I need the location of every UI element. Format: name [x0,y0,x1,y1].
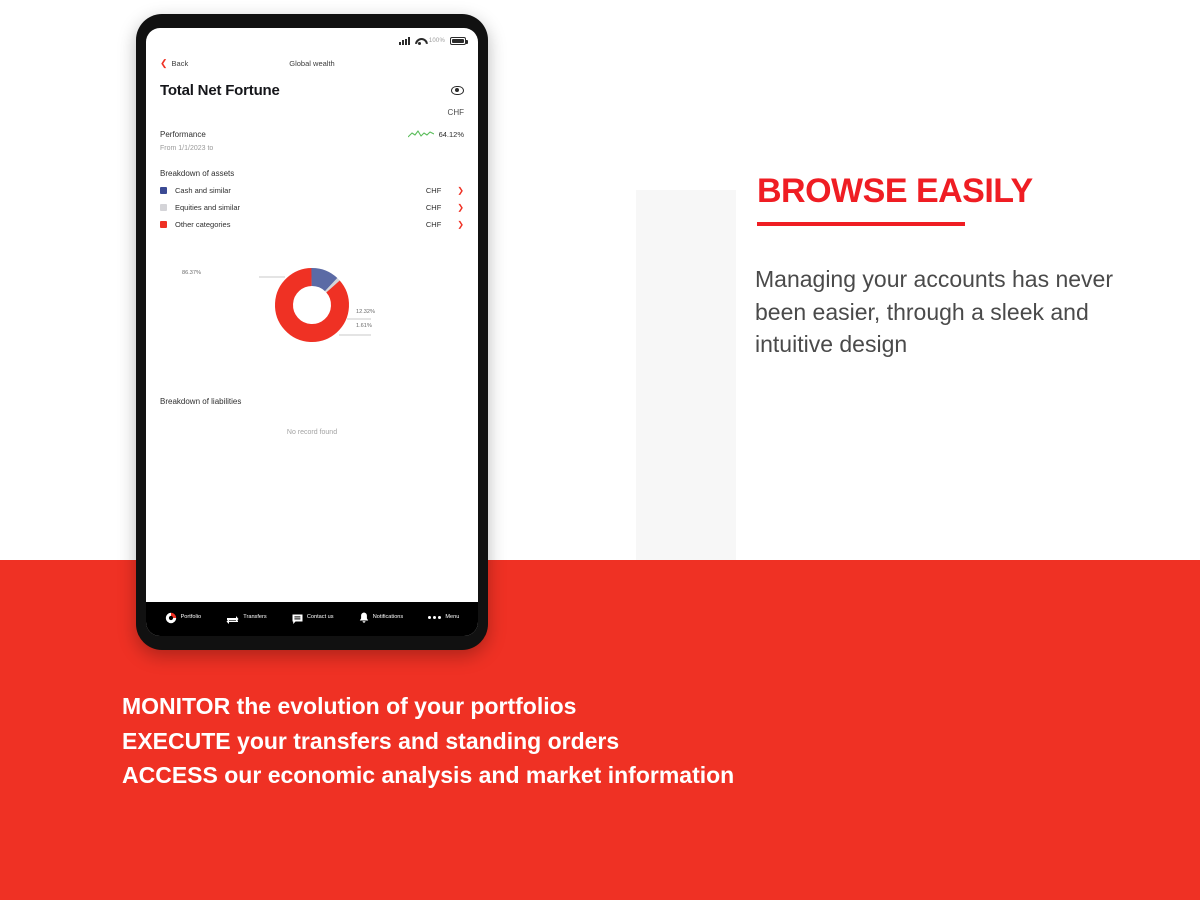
asset-row-equities[interactable]: Equities and similar CHF ❯ [160,195,464,212]
banner-keyword: EXECUTE [122,728,231,754]
assets-heading: Breakdown of assets [160,169,464,178]
tab-label: Portfolio [181,614,202,620]
banner-keyword: MONITOR [122,693,230,719]
chevron-right-icon: ❯ [457,187,464,195]
asset-name: Equities and similar [175,203,418,212]
sparkline-icon [408,129,434,139]
total-currency-label: CHF [160,108,464,117]
marketing-subcopy: Managing your accounts has never been ea… [755,263,1155,361]
chevron-right-icon: ❯ [457,221,464,229]
tab-label: Notifications [373,614,403,620]
tab-label: Transfers [243,614,266,620]
donut-chart-svg [197,247,427,365]
banner-text: our economic analysis and market informa… [218,762,734,788]
legend-swatch-cash [160,187,167,194]
banner-line-execute: EXECUTE your transfers and standing orde… [122,724,734,759]
legend-swatch-other [160,221,167,228]
asset-name: Cash and similar [175,186,418,195]
assets-donut-chart: 86.37% 12.32% 1.61% [160,243,464,375]
donut-label-equities: 1.61% [356,323,372,329]
asset-name: Other categories [175,220,418,229]
performance-value-group: 64.12% [408,129,464,139]
banner-text: your transfers and standing orders [231,728,620,754]
performance-value: 64.12% [439,130,464,139]
app-content: Total Net Fortune CHF Performance 64.12%… [146,82,478,436]
tab-label: Menu [445,614,459,620]
legend-swatch-equities [160,204,167,211]
donut-label-cash: 12.32% [356,309,375,315]
chevron-right-icon: ❯ [457,204,464,212]
tab-menu[interactable]: Menu [428,614,459,620]
tab-portfolio[interactable]: Portfolio [165,611,202,623]
page-title: Total Net Fortune [160,82,280,99]
page-title-row: Total Net Fortune [160,82,464,99]
banner-text: the evolution of your portfolios [230,693,576,719]
eye-icon[interactable] [451,86,464,95]
marketing-headline: BROWSE EASILY [757,172,1033,211]
headline-underline-rule [757,222,965,226]
asset-value: CHF [426,220,441,229]
wifi-icon [415,37,424,45]
app-navbar: ❮ Back Global wealth [146,50,478,76]
liabilities-heading: Breakdown of liabilities [160,397,464,406]
banner-keyword: ACCESS [122,762,218,788]
performance-label: Performance [160,130,206,139]
asset-row-other[interactable]: Other categories CHF ❯ [160,212,464,229]
banner-line-monitor: MONITOR the evolution of your portfolios [122,689,734,724]
status-bar: 100% [146,28,478,50]
performance-row: Performance 64.12% [160,129,464,139]
more-dots-icon [428,616,441,619]
bottom-banner-copy: MONITOR the evolution of your portfolios… [122,689,734,793]
liabilities-empty-state: No record found [160,429,464,436]
asset-value: CHF [426,186,441,195]
promo-slide: 100% ❮ Back Global wealth Total Net Fort… [0,0,1200,900]
asset-value: CHF [426,203,441,212]
performance-period: From 1/1/2023 to [160,145,464,152]
tab-label: Contact us [307,614,334,620]
chat-bubble-icon [292,612,303,622]
signal-bars-icon [399,37,410,45]
banner-line-access: ACCESS our economic analysis and market … [122,758,734,793]
tablet-device-frame: 100% ❮ Back Global wealth Total Net Fort… [136,14,488,650]
battery-icon [450,37,466,45]
nav-title: Global wealth [146,59,478,68]
portfolio-icon [165,611,177,623]
background-gray-panel [636,190,736,560]
tablet-screen: 100% ❮ Back Global wealth Total Net Fort… [146,28,478,636]
asset-row-cash[interactable]: Cash and similar CHF ❯ [160,178,464,195]
tab-transfers[interactable]: Transfers [226,612,266,622]
tab-notifications[interactable]: Notifications [359,611,403,623]
tab-contact-us[interactable]: Contact us [292,612,334,622]
battery-percent-label: 100% [429,38,445,44]
bell-icon [359,611,369,623]
donut-label-other: 86.37% [182,270,201,276]
bottom-tabbar: Portfolio Transfers [146,602,478,636]
transfers-icon [226,612,239,622]
